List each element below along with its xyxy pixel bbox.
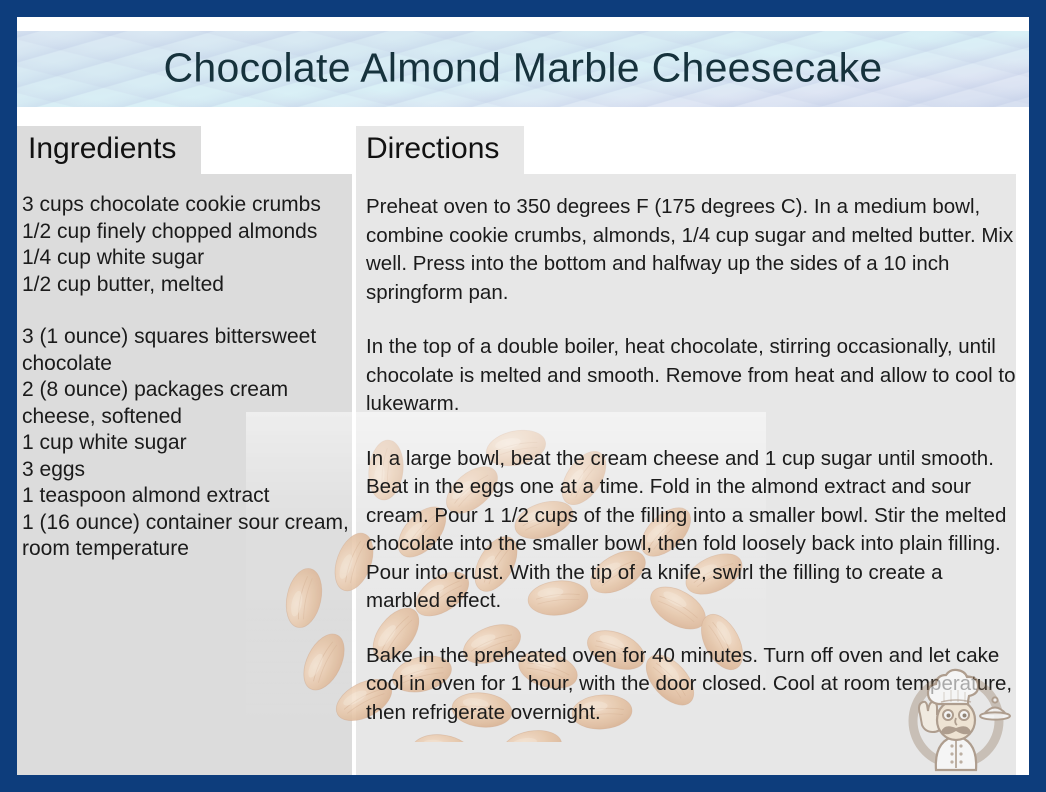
frame-border-left <box>0 0 17 792</box>
ingredient-item: 1 cup white sugar <box>22 430 352 457</box>
frame-border-right <box>1029 0 1046 792</box>
direction-paragraph: In the top of a double boiler, heat choc… <box>366 333 1018 419</box>
directions-list: Preheat oven to 350 degrees F (175 degre… <box>366 193 1018 727</box>
ingredient-item: 3 (1 ounce) squares bittersweet chocolat… <box>22 324 352 377</box>
ingredient-item: 3 eggs <box>22 457 352 484</box>
ingredient-item: 1/4 cup white sugar <box>22 245 352 272</box>
frame-border-top <box>0 0 1046 17</box>
title-banner: Chocolate Almond Marble Cheesecake <box>17 31 1029 107</box>
ingredient-item: 3 cups chocolate cookie crumbs <box>22 192 352 219</box>
direction-paragraph: In a large bowl, beat the cream cheese a… <box>366 445 1018 616</box>
recipe-card: Chocolate Almond Marble Cheesecake <box>0 0 1046 792</box>
ingredient-group: 3 (1 ounce) squares bittersweet chocolat… <box>22 324 352 563</box>
ingredients-list: 3 cups chocolate cookie crumbs 1/2 cup f… <box>22 192 352 563</box>
directions-heading: Directions <box>356 126 524 174</box>
ingredient-item: 1/2 cup butter, melted <box>22 272 352 299</box>
ingredient-item: 2 (8 ounce) packages cream cheese, softe… <box>22 377 352 430</box>
chef-logo-icon <box>896 658 1016 776</box>
ingredient-item: 1 (16 ounce) container sour cream, room … <box>22 510 352 563</box>
ingredient-item: 1/2 cup finely chopped almonds <box>22 219 352 246</box>
page-title: Chocolate Almond Marble Cheesecake <box>17 45 1029 92</box>
ingredients-heading: Ingredients <box>17 126 201 174</box>
ingredient-group: 3 cups chocolate cookie crumbs 1/2 cup f… <box>22 192 352 298</box>
frame-border-bottom <box>0 775 1046 792</box>
ingredient-item: 1 teaspoon almond extract <box>22 483 352 510</box>
direction-paragraph: Preheat oven to 350 degrees F (175 degre… <box>366 193 1018 307</box>
